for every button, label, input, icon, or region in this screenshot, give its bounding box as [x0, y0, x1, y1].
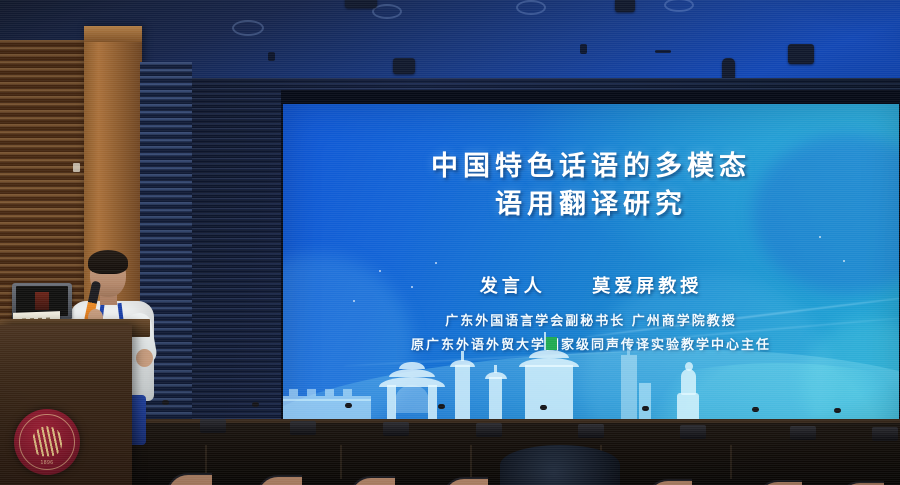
- slide-speaker-line: 发言人 莫爱屏教授: [283, 272, 899, 298]
- landmark-flagpole: [544, 332, 546, 350]
- landmark-tower-roof: [529, 350, 569, 358]
- microphone-base: [790, 426, 816, 440]
- audience-head-silhouette: [500, 445, 620, 485]
- microphone-base: [680, 425, 706, 439]
- landmark-battlement: [343, 389, 352, 396]
- table-panel-seam: [470, 445, 472, 479]
- university-seal: 1896: [14, 409, 80, 475]
- landmark-city-wall-top: [283, 396, 371, 401]
- ceiling-speaker: [393, 58, 415, 74]
- microphone-head: [752, 407, 759, 412]
- landmark-archway-roof: [399, 362, 425, 369]
- wall-switch[interactable]: [73, 163, 80, 172]
- seal-emblem-mark: [32, 426, 62, 456]
- conference-hall-photo: 中国特色话语的多模态 语用翻译研究 发言人 莫爱屏教授 广东外国语言学会副秘书长…: [0, 0, 900, 485]
- landmark-flag: [545, 337, 557, 350]
- slide-sparkle: [819, 236, 821, 238]
- microphone-head: [345, 403, 352, 408]
- landmark-statue-head: [685, 362, 693, 371]
- landmark-pagoda-roof: [450, 360, 475, 367]
- table-panel-seam: [730, 445, 732, 479]
- landmark-pagoda-tower: [525, 365, 573, 427]
- ceiling-light-ring: [664, 0, 694, 12]
- microphone-base: [290, 421, 316, 435]
- ceiling-speaker: [615, 0, 635, 12]
- microphone-head: [252, 402, 259, 407]
- slide-title-line1: 中国特色话语的多模态: [283, 148, 899, 186]
- slide-sparkle: [843, 260, 845, 262]
- projection-screen: 中国特色话语的多模态 语用翻译研究 发言人 莫爱屏教授 广东外国语言学会副秘书长…: [283, 104, 899, 435]
- laptop-screen-image: [35, 292, 49, 310]
- glasses-icon: [92, 270, 123, 279]
- ceiling-fixture: [655, 50, 671, 53]
- ceiling-light-ring: [232, 20, 264, 36]
- slide-title: 中国特色话语的多模态 语用翻译研究: [283, 148, 899, 224]
- landmark-battlement: [307, 389, 316, 396]
- seal-year: 1896: [14, 460, 80, 466]
- landmark-pagoda-spire: [461, 351, 464, 361]
- ceiling-fixture: [268, 52, 275, 61]
- microphone-head: [642, 406, 649, 411]
- microphone-base: [872, 427, 898, 441]
- ceiling-speaker: [788, 44, 814, 64]
- microphone-head: [438, 404, 445, 409]
- podium: 1896: [0, 325, 132, 485]
- landmark-modern-tower: [621, 355, 637, 427]
- slide-sparkle: [435, 262, 437, 264]
- slide-title-line2: 语用翻译研究: [283, 186, 899, 224]
- microphone-head: [540, 405, 547, 410]
- ceiling-light-ring: [516, 0, 546, 15]
- landmark-battlement: [289, 389, 298, 396]
- slide-speaker-label: 发言人: [480, 276, 546, 297]
- landmark-pagoda-roof: [485, 372, 507, 379]
- slide-sparkle: [353, 300, 355, 302]
- speaker-hand-right: [136, 349, 153, 367]
- landmark-pagoda-tall: [455, 365, 470, 427]
- ceiling-speaker: [345, 0, 377, 8]
- landmark-statue-body: [681, 369, 696, 395]
- slide-speaker-name: 莫爱屏教授: [592, 276, 702, 297]
- table-panel-seam: [340, 445, 342, 479]
- microphone-head: [834, 408, 841, 413]
- landmark-tower-antenna: [627, 341, 630, 355]
- ceiling-fixture: [580, 44, 587, 54]
- landmark-archway-gate: [395, 385, 429, 413]
- microphone-base: [476, 423, 502, 437]
- landmark-battlement: [325, 389, 334, 396]
- microphone-base: [200, 419, 226, 433]
- microphone-base: [383, 422, 409, 436]
- slide-skyline-graphic: [283, 315, 899, 435]
- landmark-pagoda-spire: [494, 365, 497, 373]
- microphone-base: [578, 424, 604, 438]
